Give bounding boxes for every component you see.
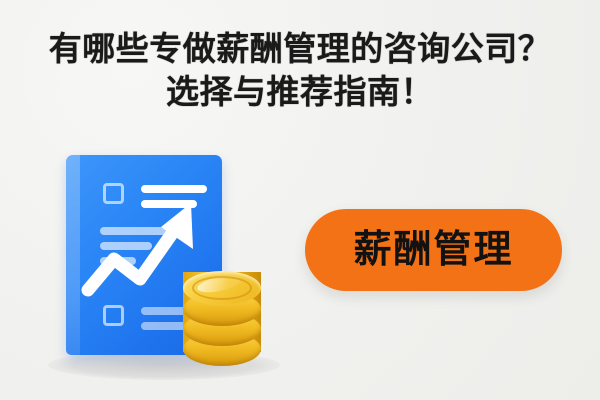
- keyword-tag-button[interactable]: 薪酬管理: [305, 209, 562, 291]
- headline-line-1: 有哪些专做薪酬管理的咨询公司？: [0, 30, 600, 69]
- keyword-tag-label: 薪酬管理: [353, 231, 513, 269]
- coin-stack-icon: [183, 271, 261, 366]
- headline-line-2: 选择与推荐指南！: [0, 73, 600, 112]
- page-title: 有哪些专做薪酬管理的咨询公司？ 选择与推荐指南！: [0, 30, 600, 112]
- illustration-salary-report: [40, 140, 290, 380]
- promo-banner: 有哪些专做薪酬管理的咨询公司？ 选择与推荐指南！ 薪酬管理: [0, 0, 600, 400]
